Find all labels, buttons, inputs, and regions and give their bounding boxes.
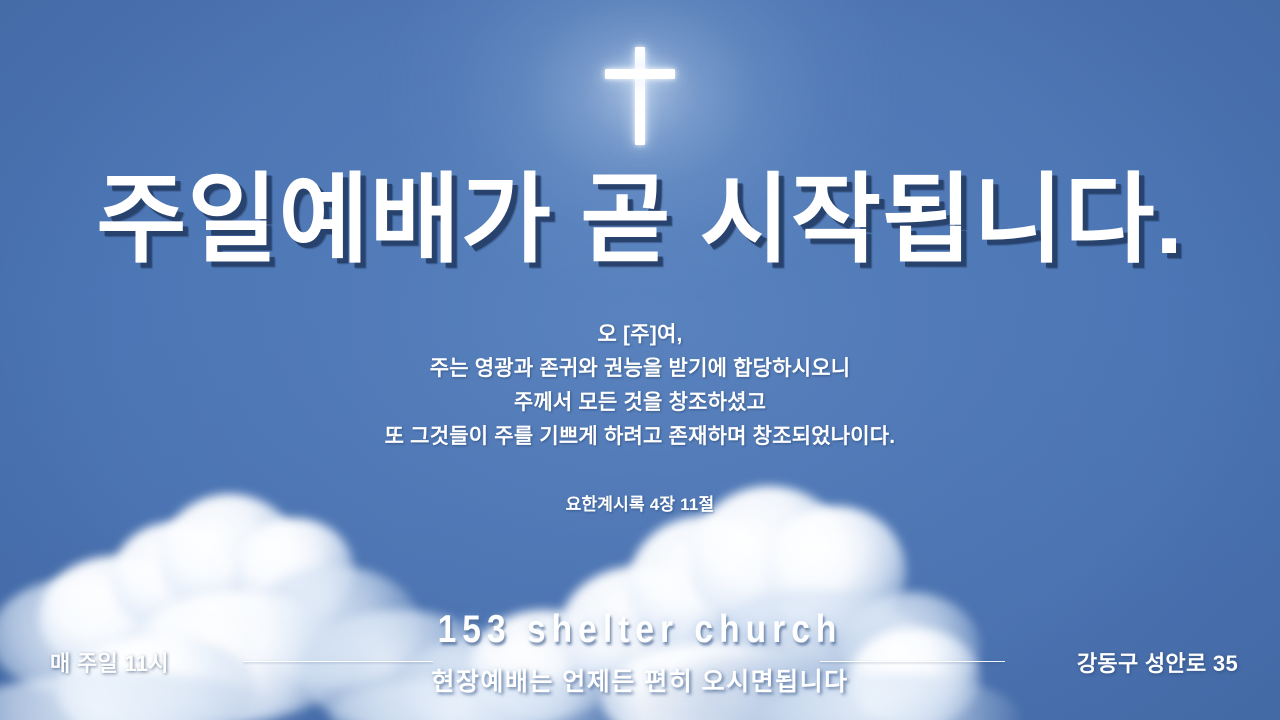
page-title: 주일예배가 곧 시작됩니다. [0,168,1280,271]
church-brand-name: 153 shelter church [90,608,1191,652]
scripture-line: 또 그것들이 주를 기쁘게 하려고 존재하며 창조되었나이다. [0,420,1280,454]
church-address-label: 강동구 성안로 35 [1077,646,1238,678]
scripture-line: 주께서 모든 것을 창조하셨고 [0,386,1280,420]
scripture-line: 오 [주]여, [0,318,1280,352]
cross-icon [605,47,675,145]
cross-vertical-bar [635,47,645,145]
worship-slide: 주일예배가 곧 시작됩니다. 오 [주]여, 주는 영광과 존귀와 권능을 받기… [0,0,1280,720]
scripture-line: 주는 영광과 존귀와 권능을 받기에 합당하시오니 [0,352,1280,386]
scripture-text: 오 [주]여, 주는 영광과 존귀와 권능을 받기에 합당하시오니 주께서 모든… [0,318,1280,454]
scripture-citation: 요한계시록 4장 11절 [0,490,1280,515]
cross-horizontal-bar [605,69,675,79]
